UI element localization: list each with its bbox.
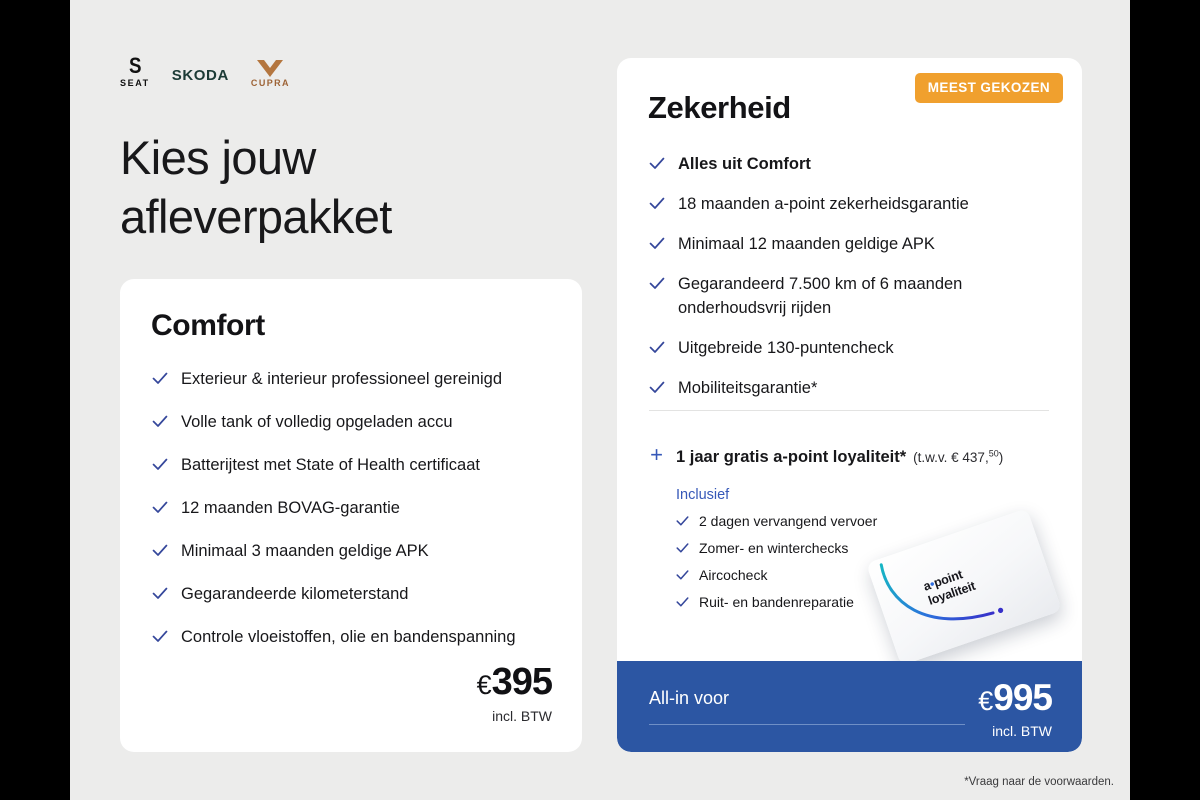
- check-icon: [676, 596, 689, 609]
- allin-label: All-in voor: [649, 688, 729, 709]
- check-icon: [152, 414, 168, 430]
- loyalty-worth-prefix: (t.w.v. € 437,: [913, 450, 989, 465]
- cupra-mark-icon: [257, 60, 283, 77]
- check-icon: [676, 569, 689, 582]
- comfort-price-note: incl. BTW: [477, 708, 552, 724]
- check-icon: [152, 371, 168, 387]
- screenshot-stage: S SEAT SKODA CUPRA Kies jouw afleverpakk…: [0, 0, 1200, 800]
- comfort-price: €395: [477, 662, 552, 705]
- check-icon: [152, 457, 168, 473]
- list-item-label: Controle vloeistoffen, olie en bandenspa…: [181, 625, 516, 649]
- seat-logo: S SEAT: [120, 56, 150, 88]
- check-icon: [649, 156, 665, 172]
- list-item: Gegarandeerde kilometerstand: [152, 582, 550, 606]
- check-icon: [676, 542, 689, 555]
- status-badge: MEEST GEKOZEN: [915, 73, 1063, 103]
- loyalty-worth-suffix: ): [999, 450, 1004, 465]
- check-icon: [152, 629, 168, 645]
- check-icon: [152, 500, 168, 516]
- list-item-label: Exterieur & interieur professioneel gere…: [181, 367, 502, 391]
- list-item-label: Aircocheck: [699, 566, 767, 585]
- seat-mark-icon: S: [129, 56, 141, 76]
- footnote: *Vraag naar de voorwaarden.: [964, 776, 1114, 788]
- list-item: Mobiliteitsgarantie*: [649, 376, 1049, 400]
- cupra-logo: CUPRA: [251, 60, 290, 88]
- list-item: Gegarandeerd 7.500 km of 6 maanden onder…: [649, 272, 1049, 320]
- price-amount: 395: [492, 661, 552, 703]
- list-item: 18 maanden a-point zekerheidsgarantie: [649, 192, 1049, 216]
- list-item-label: 2 dagen vervangend vervoer: [699, 512, 877, 531]
- comfort-price-block: €395 incl. BTW: [477, 662, 552, 724]
- plus-icon: +: [649, 446, 664, 464]
- zekerheid-title: Zekerheid: [648, 90, 791, 126]
- list-item: Alles uit Comfort: [649, 152, 1049, 176]
- page-canvas: S SEAT SKODA CUPRA Kies jouw afleverpakk…: [70, 0, 1130, 800]
- zekerheid-price-note: incl. BTW: [978, 723, 1052, 739]
- zekerheid-feature-list: Alles uit Comfort 18 maanden a-point zek…: [649, 152, 1049, 416]
- list-item-label: Minimaal 3 maanden geldige APK: [181, 539, 429, 563]
- list-item: Minimaal 3 maanden geldige APK: [152, 539, 550, 563]
- loyalty-worth-cents: 50: [989, 449, 999, 459]
- list-item-label: Gegarandeerde kilometerstand: [181, 582, 408, 606]
- comfort-title: Comfort: [151, 309, 265, 343]
- check-icon: [152, 543, 168, 559]
- check-icon: [649, 340, 665, 356]
- check-icon: [649, 276, 665, 292]
- check-icon: [152, 586, 168, 602]
- list-item: Volle tank of volledig opgeladen accu: [152, 410, 550, 434]
- list-item-label: 12 maanden BOVAG-garantie: [181, 496, 400, 520]
- list-item-label: Volle tank of volledig opgeladen accu: [181, 410, 453, 434]
- currency-symbol: €: [978, 686, 992, 716]
- loyalty-worth: (t.w.v. € 437,50): [913, 450, 1003, 465]
- currency-symbol: €: [477, 670, 491, 700]
- package-card-zekerheid[interactable]: MEEST GEKOZEN Zekerheid Alles uit Comfor…: [617, 58, 1082, 752]
- brand-logo-row: S SEAT SKODA CUPRA: [120, 56, 290, 88]
- list-item: Controle vloeistoffen, olie en bandenspa…: [152, 625, 550, 649]
- price-amount: 995: [993, 677, 1052, 718]
- zekerheid-price-block: €995 incl. BTW: [978, 678, 1052, 739]
- included-label: Inclusief: [676, 487, 1059, 503]
- list-item-label: Mobiliteitsgarantie*: [678, 376, 817, 400]
- list-item-label: Uitgebreide 130-puntencheck: [678, 336, 894, 360]
- check-icon: [649, 196, 665, 212]
- check-icon: [649, 236, 665, 252]
- loyalty-title: 1 jaar gratis a-point loyaliteit*: [676, 448, 906, 466]
- zekerheid-price: €995: [978, 678, 1052, 721]
- list-item-label: Gegarandeerd 7.500 km of 6 maanden onder…: [678, 272, 1049, 320]
- page-title: Kies jouw afleverpakket: [120, 128, 540, 246]
- list-item-label: 18 maanden a-point zekerheidsgarantie: [678, 192, 969, 216]
- list-item: Minimaal 12 maanden geldige APK: [649, 232, 1049, 256]
- comfort-feature-list: Exterieur & interieur professioneel gere…: [152, 367, 550, 668]
- list-item-label: Zomer- en winterchecks: [699, 539, 848, 558]
- allin-rule: [649, 724, 965, 725]
- zekerheid-price-footer: All-in voor €995 incl. BTW: [617, 661, 1082, 752]
- list-item-label: Batterijtest met State of Health certifi…: [181, 453, 480, 477]
- check-icon: [676, 515, 689, 528]
- list-item: Uitgebreide 130-puntencheck: [649, 336, 1049, 360]
- section-divider: [649, 410, 1049, 411]
- list-item: 12 maanden BOVAG-garantie: [152, 496, 550, 520]
- seat-wordmark: SEAT: [120, 78, 150, 88]
- cupra-wordmark: CUPRA: [251, 78, 290, 88]
- skoda-logo: SKODA: [172, 67, 229, 88]
- list-item-label: Alles uit Comfort: [678, 152, 811, 176]
- list-item: Batterijtest met State of Health certifi…: [152, 453, 550, 477]
- list-item-label: Minimaal 12 maanden geldige APK: [678, 232, 935, 256]
- list-item-label: Ruit- en bandenreparatie: [699, 593, 854, 612]
- list-item: Exterieur & interieur professioneel gere…: [152, 367, 550, 391]
- loyalty-header: + 1 jaar gratis a-point loyaliteit*(t.w.…: [649, 446, 1059, 467]
- package-card-comfort[interactable]: Comfort Exterieur & interieur profession…: [120, 279, 582, 752]
- check-icon: [649, 380, 665, 396]
